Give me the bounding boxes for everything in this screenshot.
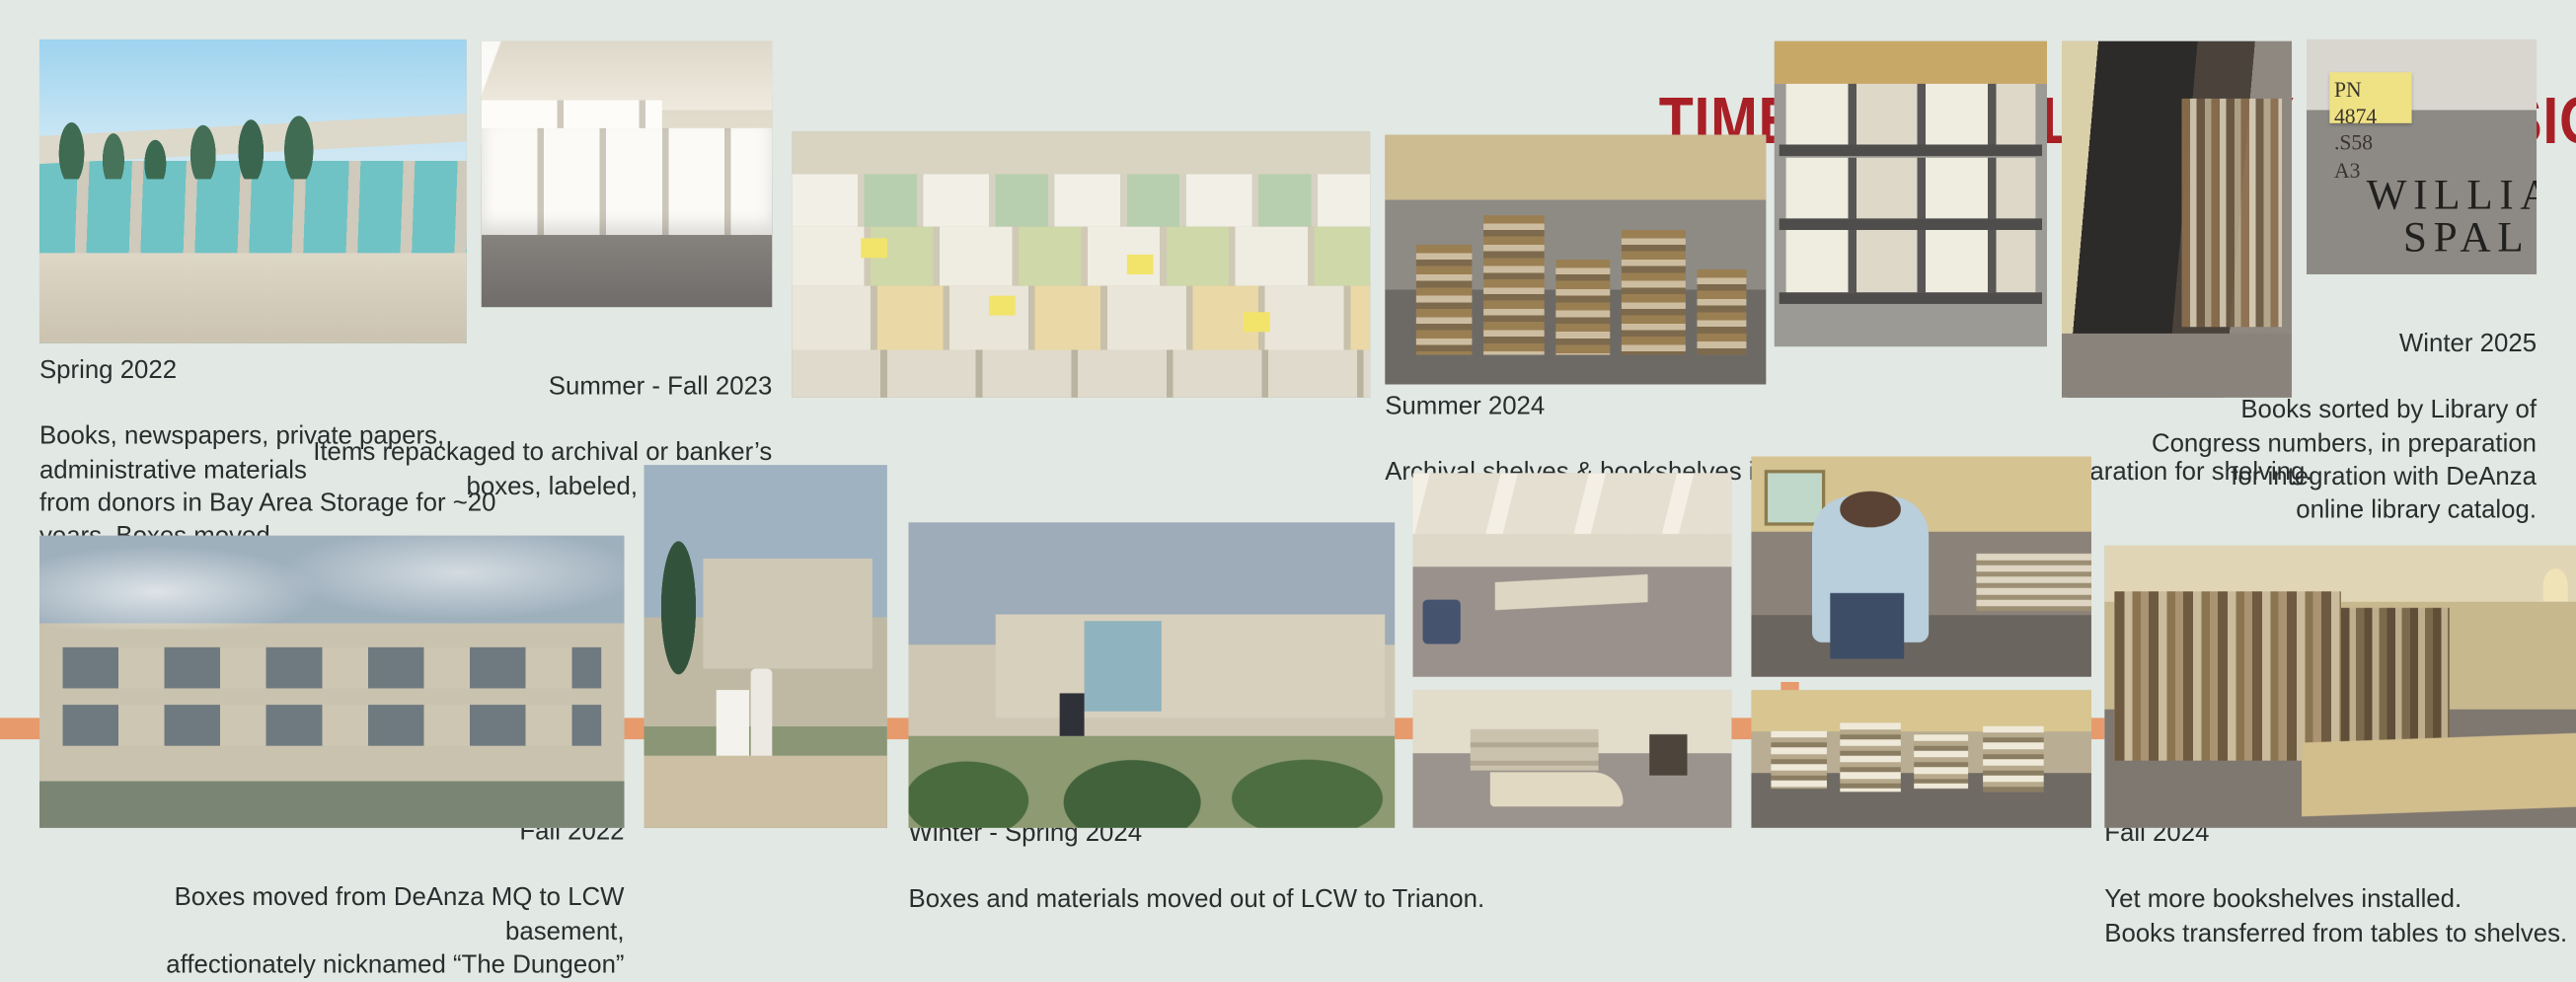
- photo-grey-shelving-boxes: [1775, 41, 2047, 347]
- caption-date-summer-fall-2023: Summer - Fall 2023: [263, 371, 772, 405]
- photo-book-call-number: PN 4874 .S58 A3 WILLIAM SPAL: [2307, 39, 2537, 274]
- photo-labeled-archive-boxes: [792, 131, 1370, 398]
- photo-trianon-move: [908, 522, 1395, 828]
- caption-date-winter-2025: Winter 2025: [2060, 329, 2537, 362]
- photo-handtruck-outdoors: [644, 465, 887, 828]
- caption-body-winter-spring-2024: Boxes and materials moved out of LCW to …: [908, 886, 1484, 914]
- photo-volunteer-shelving: [1751, 457, 2091, 677]
- caption-winter-2025: Winter 2025 Books sorted by Library of C…: [2060, 296, 2537, 528]
- photo-book-stacks-floor: [1385, 134, 1766, 384]
- photo-circulation-desk: [1413, 690, 1732, 828]
- infographic-canvas: TIMELINE OF LIBRARY EXPANSION: [0, 0, 2576, 870]
- caption-body-fall-2022: Boxes moved from DeAnza MQ to LCW baseme…: [166, 884, 624, 978]
- caption-body-fall-2024: Yet more bookshelves installed. Books tr…: [2104, 886, 2567, 947]
- photo-finished-reading-room: [2104, 546, 2576, 828]
- call-number-text: PN 4874 .S58 A3: [2334, 77, 2408, 184]
- photo-white-boxes-room: [482, 41, 773, 308]
- photo-books-on-tables: [1751, 690, 2091, 828]
- photo-lcw-building: [39, 536, 625, 828]
- photo-empty-classroom: [1413, 473, 1732, 676]
- caption-body-winter-2025: Books sorted by Library of Congress numb…: [2152, 397, 2537, 524]
- photo-storage-units: [39, 39, 467, 343]
- book-cover-line-2: SPAL: [2403, 213, 2531, 263]
